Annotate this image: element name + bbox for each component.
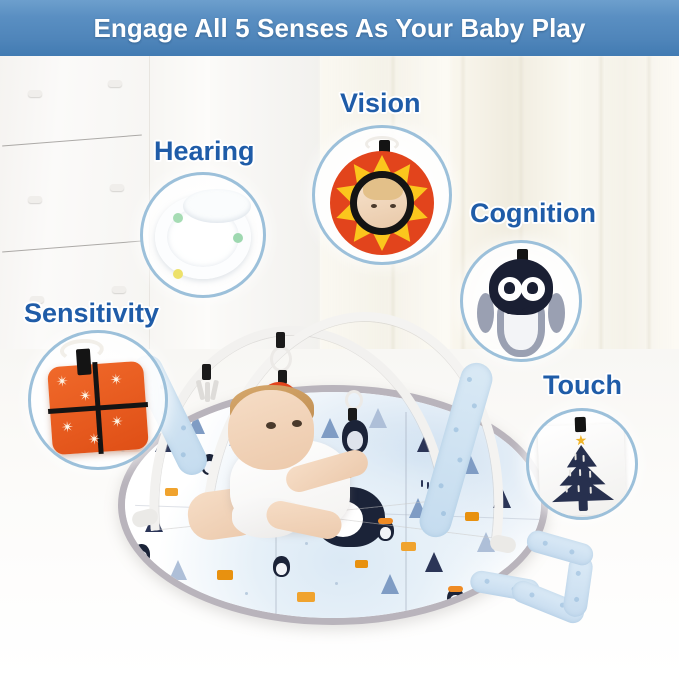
drawer-knob: [108, 80, 122, 87]
star-pillow-toy: ✴ ✴ ✴ ✴ ✴ ✴: [47, 361, 149, 455]
reflected-baby-hair: [363, 174, 403, 200]
penguin-plush-toy: [483, 259, 559, 357]
hanging-teether-ring: [270, 346, 292, 372]
drawer-line: [2, 135, 142, 147]
baby-eye: [292, 420, 302, 427]
drawer-knob: [28, 90, 42, 97]
page-title: Engage All 5 Senses As Your Baby Play: [93, 13, 585, 44]
callout-bubble-sensitivity[interactable]: ✴ ✴ ✴ ✴ ✴ ✴: [28, 330, 168, 470]
baby-eye: [266, 422, 276, 429]
handle-segment: [524, 528, 595, 568]
callout-label-sensitivity: Sensitivity: [24, 298, 159, 329]
reflected-baby-eye: [371, 204, 377, 208]
reflected-baby-eye: [390, 204, 396, 208]
mat-motif: [217, 570, 233, 580]
mat-speck: [335, 582, 338, 585]
rattle-handle: [183, 189, 251, 223]
header-banner: Engage All 5 Senses As Your Baby Play: [0, 0, 679, 56]
penguin-eye: [498, 277, 522, 301]
mat-motif: [297, 592, 315, 602]
rattle-bead: [233, 233, 243, 243]
toy-strap: [202, 364, 211, 380]
callout-bubble-touch[interactable]: ★: [526, 408, 638, 520]
drawer-knob: [28, 196, 42, 203]
callout-label-cognition: Cognition: [470, 198, 596, 229]
callout-label-touch: Touch: [543, 370, 622, 401]
drawer-line: [2, 241, 142, 253]
carry-handle: [470, 535, 620, 631]
sunburst-mirror-toy: [330, 151, 434, 255]
mat-penguin: [133, 544, 150, 565]
drawer-knob: [112, 286, 126, 293]
hanging-keys-toy: [198, 378, 218, 404]
mat-tree: [169, 560, 187, 580]
toy-strap: [276, 332, 285, 348]
mat-penguin: [273, 556, 290, 577]
mat-motif: [355, 560, 368, 568]
callout-bubble-vision[interactable]: [312, 125, 452, 265]
drawer-knob: [110, 184, 124, 191]
mat-tree: [425, 552, 443, 572]
baby-head: [228, 390, 314, 470]
mirror-reflection: [350, 171, 414, 235]
mat-motif: [401, 542, 416, 551]
mat-tree: [381, 574, 399, 594]
toy-tab: [76, 348, 92, 375]
product-infographic: Engage All 5 Senses As Your Baby Play: [0, 0, 679, 679]
toy-tab: [575, 417, 587, 432]
callout-bubble-cognition[interactable]: [460, 240, 582, 362]
rattle-bead: [173, 213, 183, 223]
penguin-eye: [521, 277, 545, 301]
mat-penguin: [447, 588, 464, 609]
callout-label-hearing: Hearing: [154, 136, 255, 167]
tree-plush-toy: ★: [537, 424, 626, 517]
rattle-ring-toy: [155, 195, 251, 279]
rattle-bead: [173, 269, 183, 279]
tree-trunk: [578, 495, 588, 511]
callout-bubble-hearing[interactable]: [140, 172, 266, 298]
mat-speck: [305, 542, 308, 545]
mat-speck: [245, 592, 248, 595]
callout-label-vision: Vision: [340, 88, 421, 119]
toy-ring: [345, 390, 363, 410]
